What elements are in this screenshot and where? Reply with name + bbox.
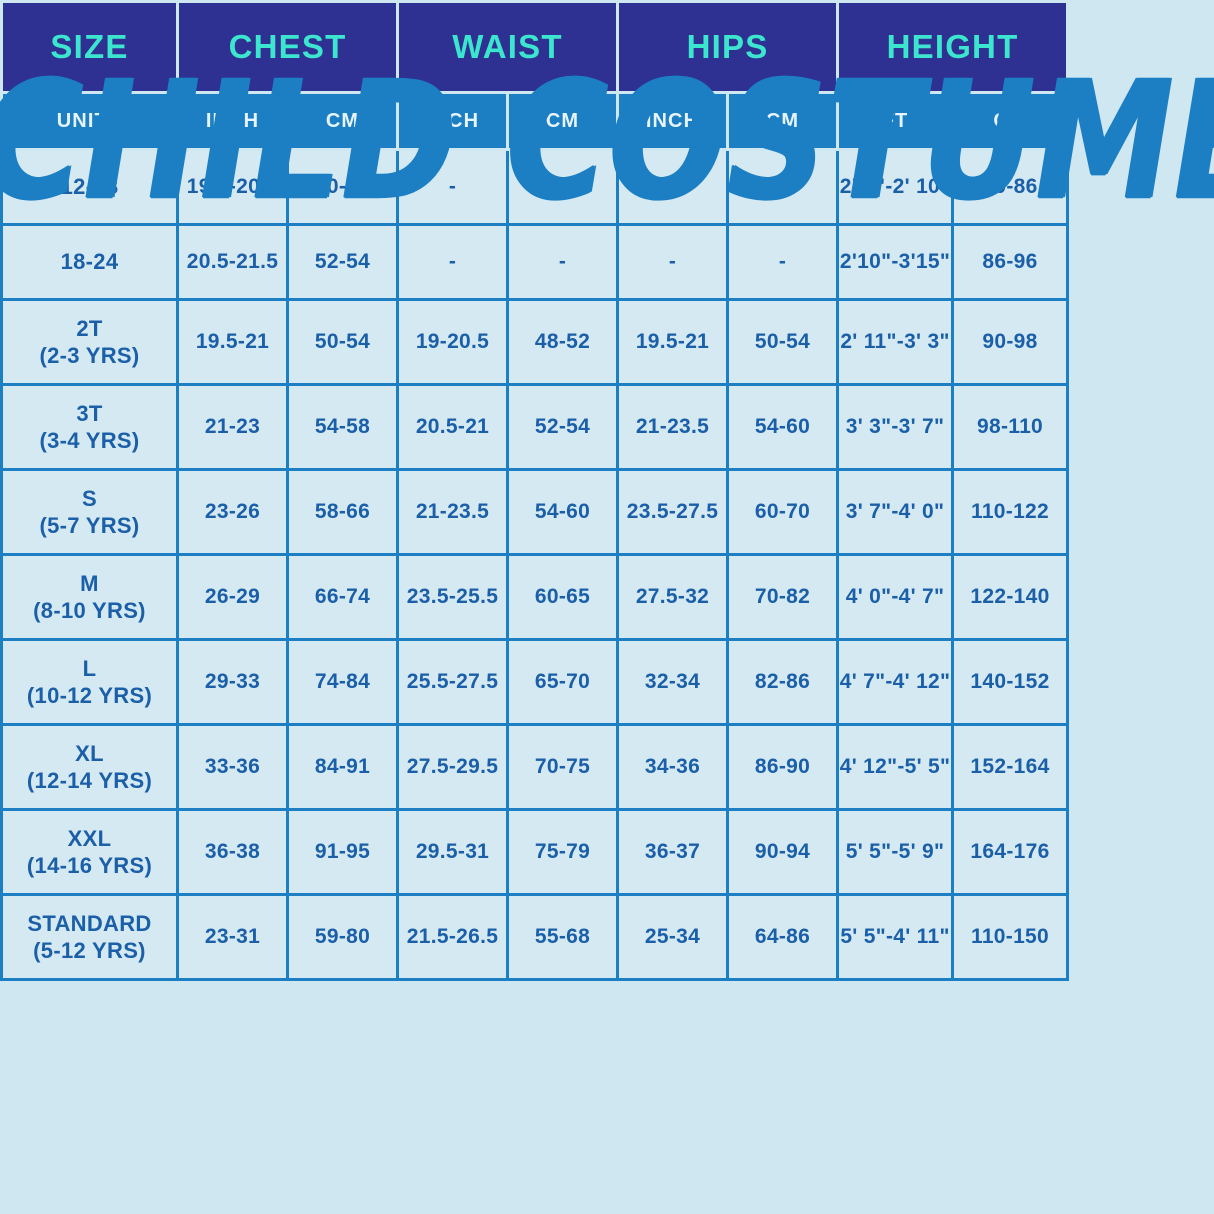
- size-chart-body: 12-1819.5-20.550-52----2' 7"-2' 10"80-86…: [2, 150, 1068, 980]
- cell-hips-cm: 82-86: [728, 640, 838, 725]
- size-label: 3T: [3, 400, 176, 428]
- cell-height-cm: 122-140: [953, 555, 1068, 640]
- cell-hips-inch: 32-34: [618, 640, 728, 725]
- cell-chest-cm: 54-58: [288, 385, 398, 470]
- size-age-range: (8-10 YRS): [3, 597, 176, 625]
- cell-hips-inch: 27.5-32: [618, 555, 728, 640]
- table-row: XXL(14-16 YRS)36-3891-9529.5-3175-7936-3…: [2, 810, 1068, 895]
- cell-chest-cm: 91-95: [288, 810, 398, 895]
- cell-chest-cm: 66-74: [288, 555, 398, 640]
- cell-chest-inch: 19.5-21: [178, 300, 288, 385]
- cell-height-ft: 5' 5"-4' 11": [838, 895, 953, 980]
- cell-chest-inch: 23-26: [178, 470, 288, 555]
- size-age-range: (2-3 YRS): [3, 342, 176, 370]
- cell-waist-inch: 27.5-29.5: [398, 725, 508, 810]
- cell-hips-cm: 54-60: [728, 385, 838, 470]
- table-row: 3T(3-4 YRS)21-2354-5820.5-2152-5421-23.5…: [2, 385, 1068, 470]
- size-label: S: [3, 485, 176, 513]
- cell-hips-cm: 50-54: [728, 300, 838, 385]
- cell-chest-cm: 50-54: [288, 300, 398, 385]
- cell-size: XL(12-14 YRS): [2, 725, 178, 810]
- cell-height-cm: 140-152: [953, 640, 1068, 725]
- cell-waist-inch: 23.5-25.5: [398, 555, 508, 640]
- cell-height-cm: 98-110: [953, 385, 1068, 470]
- size-age-range: (3-4 YRS): [3, 427, 176, 455]
- size-age-range: (10-12 YRS): [3, 682, 176, 710]
- cell-hips-cm: 90-94: [728, 810, 838, 895]
- cell-chest-inch: 36-38: [178, 810, 288, 895]
- size-label: XL: [3, 740, 176, 768]
- cell-height-cm: 152-164: [953, 725, 1068, 810]
- cell-height-ft: 2' 11"-3' 3": [838, 300, 953, 385]
- cell-height-ft: 4' 0"-4' 7": [838, 555, 953, 640]
- cell-chest-cm: 74-84: [288, 640, 398, 725]
- cell-waist-cm: 75-79: [508, 810, 618, 895]
- cell-chest-cm: 58-66: [288, 470, 398, 555]
- cell-chest-cm: 59-80: [288, 895, 398, 980]
- cell-size: XXL(14-16 YRS): [2, 810, 178, 895]
- cell-hips-inch: 23.5-27.5: [618, 470, 728, 555]
- cell-waist-inch: 19-20.5: [398, 300, 508, 385]
- cell-chest-inch: 26-29: [178, 555, 288, 640]
- cell-waist-cm: 55-68: [508, 895, 618, 980]
- size-age-range: (5-12 YRS): [3, 937, 176, 965]
- cell-waist-inch: 20.5-21: [398, 385, 508, 470]
- size-label: STANDARD: [3, 910, 176, 938]
- cell-hips-cm: 64-86: [728, 895, 838, 980]
- cell-chest-cm: 84-91: [288, 725, 398, 810]
- cell-size: 2T(2-3 YRS): [2, 300, 178, 385]
- cell-height-ft: 5' 5"-5' 9": [838, 810, 953, 895]
- cell-height-ft: 4' 12"-5' 5": [838, 725, 953, 810]
- table-row: S(5-7 YRS)23-2658-6621-23.554-6023.5-27.…: [2, 470, 1068, 555]
- size-label: XXL: [3, 825, 176, 853]
- cell-chest-inch: 21-23: [178, 385, 288, 470]
- cell-hips-inch: 36-37: [618, 810, 728, 895]
- cell-waist-cm: 70-75: [508, 725, 618, 810]
- size-chart-page: CHILD COSTUME SIZE CHEST WAIST HIPS HEIG…: [0, 0, 1214, 1214]
- cell-height-cm: 110-150: [953, 895, 1068, 980]
- cell-height-cm: 110-122: [953, 470, 1068, 555]
- cell-hips-cm: 60-70: [728, 470, 838, 555]
- size-label: L: [3, 655, 176, 683]
- size-label: 2T: [3, 315, 176, 343]
- cell-waist-inch: 21-23.5: [398, 470, 508, 555]
- cell-hips-cm: 70-82: [728, 555, 838, 640]
- cell-size: L(10-12 YRS): [2, 640, 178, 725]
- cell-waist-cm: 48-52: [508, 300, 618, 385]
- cell-chest-inch: 29-33: [178, 640, 288, 725]
- table-row: STANDARD(5-12 YRS)23-3159-8021.5-26.555-…: [2, 895, 1068, 980]
- cell-hips-inch: 21-23.5: [618, 385, 728, 470]
- table-row: 2T(2-3 YRS)19.5-2150-5419-20.548-5219.5-…: [2, 300, 1068, 385]
- cell-hips-inch: 19.5-21: [618, 300, 728, 385]
- cell-chest-inch: 23-31: [178, 895, 288, 980]
- cell-waist-cm: 54-60: [508, 470, 618, 555]
- cell-chest-inch: 33-36: [178, 725, 288, 810]
- size-age-range: (12-14 YRS): [3, 767, 176, 795]
- cell-height-ft: 3' 7"-4' 0": [838, 470, 953, 555]
- table-row: XL(12-14 YRS)33-3684-9127.5-29.570-7534-…: [2, 725, 1068, 810]
- cell-height-ft: 3' 3"-3' 7": [838, 385, 953, 470]
- size-label: M: [3, 570, 176, 598]
- cell-waist-cm: 60-65: [508, 555, 618, 640]
- cell-waist-cm: 65-70: [508, 640, 618, 725]
- page-title: CHILD COSTUME: [0, 58, 1214, 225]
- table-row: M(8-10 YRS)26-2966-7423.5-25.560-6527.5-…: [2, 555, 1068, 640]
- cell-size: STANDARD(5-12 YRS): [2, 895, 178, 980]
- size-age-range: (14-16 YRS): [3, 852, 176, 880]
- cell-hips-inch: 34-36: [618, 725, 728, 810]
- size-label: 18-24: [3, 248, 176, 276]
- cell-waist-inch: 25.5-27.5: [398, 640, 508, 725]
- cell-hips-cm: 86-90: [728, 725, 838, 810]
- cell-size: S(5-7 YRS): [2, 470, 178, 555]
- cell-size: M(8-10 YRS): [2, 555, 178, 640]
- cell-height-cm: 164-176: [953, 810, 1068, 895]
- page-title-wrap: CHILD COSTUME: [0, 58, 1214, 195]
- cell-waist-inch: 29.5-31: [398, 810, 508, 895]
- cell-height-ft: 4' 7"-4' 12": [838, 640, 953, 725]
- cell-waist-cm: 52-54: [508, 385, 618, 470]
- cell-hips-inch: 25-34: [618, 895, 728, 980]
- size-age-range: (5-7 YRS): [3, 512, 176, 540]
- cell-size: 3T(3-4 YRS): [2, 385, 178, 470]
- table-row: L(10-12 YRS)29-3374-8425.5-27.565-7032-3…: [2, 640, 1068, 725]
- cell-waist-inch: 21.5-26.5: [398, 895, 508, 980]
- cell-height-cm: 90-98: [953, 300, 1068, 385]
